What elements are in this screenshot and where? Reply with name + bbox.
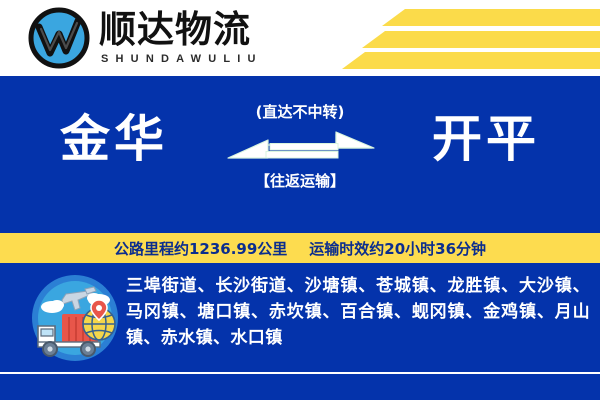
bidirectional-arrow-icon <box>224 128 376 164</box>
footer-band <box>0 374 600 400</box>
route-note-roundtrip: 【往返运输】 <box>255 171 345 191</box>
duration-text: 运输时效约20小时36分钟 <box>309 238 486 259</box>
decorative-stripes <box>340 0 600 76</box>
distance-text: 公路里程约1236.99公里 <box>114 238 287 259</box>
logistics-truck-globe-icon <box>26 272 124 368</box>
route-middle-group: (直达不中转) 【往返运输】 <box>210 102 390 210</box>
route-note-direct: (直达不中转) <box>256 102 345 122</box>
brand-name-cn: 顺达物流 <box>99 11 263 49</box>
brand-name-en: SHUNDAWULIU <box>101 53 263 65</box>
stripe-bottom <box>342 52 600 69</box>
destination-city: 开平 <box>386 108 586 170</box>
coverage-section: 三埠街道、长沙街道、沙塘镇、苍城镇、龙胜镇、大沙镇、马冈镇、塘口镇、赤坎镇、百合… <box>0 263 600 372</box>
logistics-route-banner: 顺达物流 SHUNDAWULIU 金华 (直达不中转) <box>0 0 600 400</box>
brand-text-group: 顺达物流 SHUNDAWULIU <box>99 7 263 69</box>
origin-city: 金华 <box>14 108 214 170</box>
circle-swoosh-logo-icon <box>28 7 90 69</box>
route-info-bar: 公路里程约1236.99公里 运输时效约20小时36分钟 <box>0 233 600 263</box>
route-section: 金华 (直达不中转) 【往返运输】 开平 <box>0 76 600 228</box>
stripe-top <box>382 9 600 26</box>
banner-header: 顺达物流 SHUNDAWULIU <box>0 0 600 76</box>
coverage-area-list: 三埠街道、长沙街道、沙塘镇、苍城镇、龙胜镇、大沙镇、马冈镇、塘口镇、赤坎镇、百合… <box>126 273 590 351</box>
brand-logo-group: 顺达物流 SHUNDAWULIU <box>28 4 263 72</box>
stripe-middle <box>362 31 600 48</box>
